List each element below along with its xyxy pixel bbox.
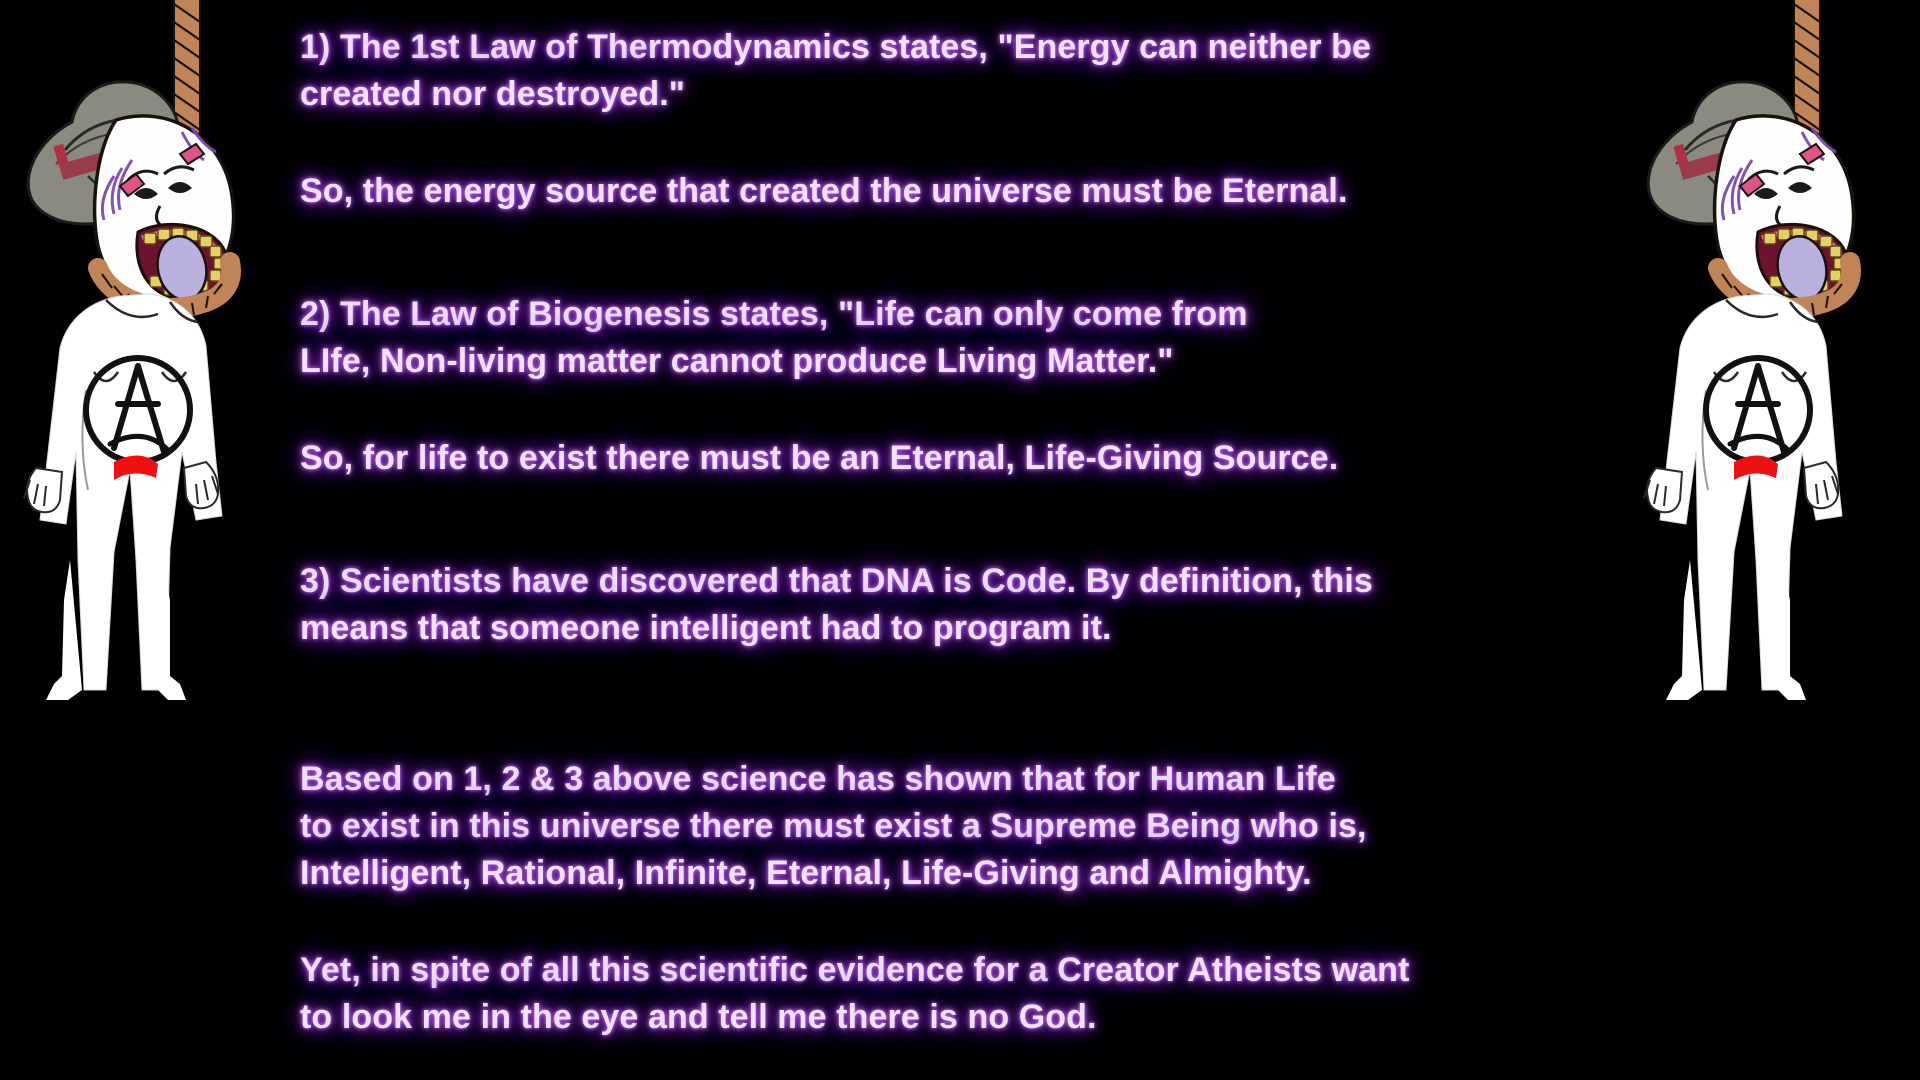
- hand-left-icon: [1644, 468, 1682, 512]
- spacer: [300, 118, 1630, 168]
- point-1-conclusion-text: So, the energy source that created the u…: [300, 168, 1630, 215]
- point-1-text: 1) The 1st Law of Thermodynamics states,…: [300, 24, 1630, 118]
- meme-canvas: 1) The 1st Law of Thermodynamics states,…: [0, 0, 1920, 1080]
- spacer: [300, 482, 1630, 558]
- spacer: [300, 728, 1630, 756]
- spacer: [300, 385, 1630, 435]
- hanging-figure-left: [10, 0, 290, 790]
- spacer: [300, 897, 1630, 947]
- point-2-conclusion-text: So, for life to exist there must be an E…: [300, 435, 1630, 482]
- body-onesie: [24, 294, 222, 700]
- body-onesie: [1644, 294, 1842, 700]
- point-3-text: 3) Scientists have discovered that DNA i…: [300, 558, 1630, 652]
- spacer: [300, 652, 1630, 728]
- spacer: [300, 215, 1630, 291]
- summary-text: Based on 1, 2 & 3 above science has show…: [300, 756, 1630, 897]
- hand-left-icon: [24, 468, 62, 512]
- argument-text-block: 1) The 1st Law of Thermodynamics states,…: [300, 0, 1630, 1080]
- hanging-figure-right: [1630, 0, 1910, 790]
- closing-text: Yet, in spite of all this scientific evi…: [300, 947, 1630, 1041]
- point-2-text: 2) The Law of Biogenesis states, "Life c…: [300, 291, 1630, 385]
